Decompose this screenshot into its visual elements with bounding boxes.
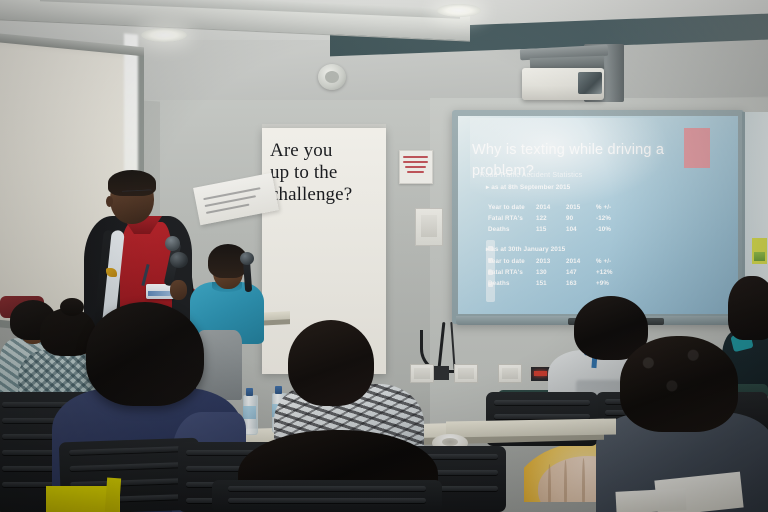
smoke-detector-icon xyxy=(318,64,346,90)
audience-hair xyxy=(288,320,374,406)
eyeglasses-icon xyxy=(122,189,152,199)
slide-subtitle: Road Traffic Accident Statistics xyxy=(480,172,582,179)
audience-hair-bob xyxy=(86,302,204,406)
bullet-marker-icon: ▸ xyxy=(486,184,489,191)
audience-hair-curly xyxy=(620,336,738,432)
table-row: Fatal RTA's 130 147 +12% xyxy=(488,269,617,278)
presenter-ear xyxy=(106,196,113,207)
classroom-photo: Are you up to the challenge? Why is text… xyxy=(0,0,768,512)
wall-warning-sign xyxy=(399,150,433,184)
power-plug[interactable] xyxy=(434,366,449,380)
desk-microphone-head-icon xyxy=(240,252,254,265)
table-row: Fatal RTA's 122 90 -12% xyxy=(488,215,615,224)
table-row: Year to date 2014 2015 % +/- xyxy=(488,204,615,213)
projector-lens-icon xyxy=(578,72,602,94)
power-socket[interactable] xyxy=(498,364,522,383)
whiteboard-toolbar[interactable] xyxy=(486,240,495,302)
papers-on-desk xyxy=(615,488,686,512)
ceiling-downlight xyxy=(437,4,481,17)
table-row: Deaths 115 104 -10% xyxy=(488,226,615,235)
power-socket[interactable] xyxy=(454,364,478,383)
banner-line-1: Are you xyxy=(270,140,382,162)
wall-control-box[interactable] xyxy=(415,208,443,246)
tape-roll-hole xyxy=(442,438,458,446)
desk-microphone xyxy=(170,252,188,268)
yellow-poster xyxy=(752,238,767,264)
banner-headline: Are you up to the challenge? xyxy=(270,140,382,206)
slide-bullet-1: ▸ as at 8th September 2015 xyxy=(486,183,570,191)
yellow-bag-edge xyxy=(105,478,121,512)
table-row: Deaths 151 163 +9% xyxy=(488,280,617,289)
chair[interactable] xyxy=(212,480,442,512)
presenter-hand xyxy=(170,280,187,300)
slide-stat-table-1: Year to date 2014 2015 % +/- Fatal RTA's… xyxy=(486,202,617,238)
table-row: Year to date 2013 2014 % +/- xyxy=(488,258,617,267)
banner-line-3: challenge? xyxy=(270,184,382,206)
banner-line-2: up to the xyxy=(270,162,382,184)
audience-hair xyxy=(728,276,768,340)
right-desk xyxy=(446,419,616,438)
slide-bullet-2: ▸ as at 30th January 2015 xyxy=(486,245,565,253)
ceiling-downlight xyxy=(141,28,187,42)
slide-stat-table-2: Year to date 2013 2014 % +/- Fatal RTA's… xyxy=(486,256,619,292)
jacket-logo-icon xyxy=(106,268,117,277)
